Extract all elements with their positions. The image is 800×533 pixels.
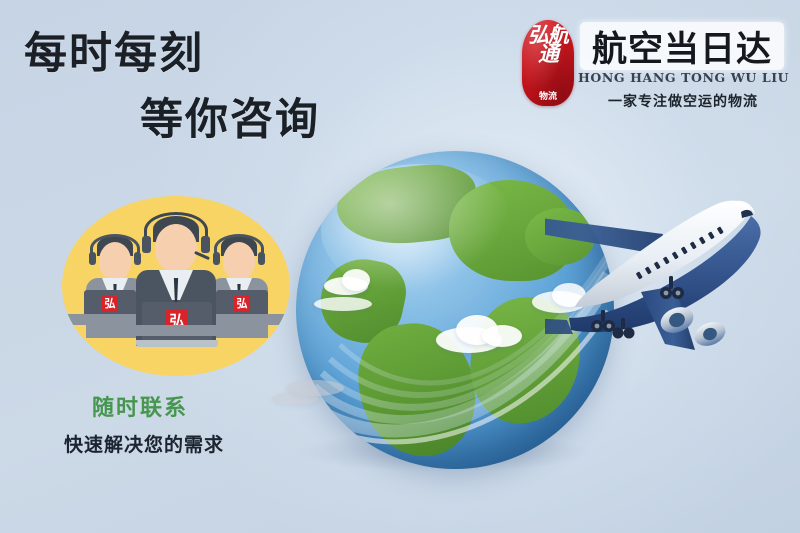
headline-line-1: 每时每刻 — [24, 33, 204, 77]
logo-slogan: 一家专注做空运的物流 — [578, 91, 788, 111]
laptop-brand-logo: 弘 — [102, 296, 118, 312]
caption-fast-solution: 快速解决您的需求 — [64, 430, 224, 457]
cloud-icon — [272, 392, 318, 405]
customer-service-illustration: 弘 弘 — [62, 196, 290, 376]
caption-contact-anytime: 随时联系 — [92, 390, 188, 422]
poster-canvas: 每时每刻 等你咨询 弘航通 物流 航空当日达 HONG HANG TONG WU… — [0, 0, 800, 533]
red-seal-stamp-icon: 弘航通 物流 — [522, 20, 574, 106]
seal-industry-characters: 物流 — [522, 91, 574, 101]
laptop-center: 弘 — [140, 302, 214, 346]
laptop-brand-logo: 弘 — [234, 296, 250, 312]
cloud-icon — [342, 269, 370, 291]
customer-service-circle-backdrop: 弘 弘 — [62, 196, 290, 376]
headline-line-2: 等你咨询 — [140, 99, 320, 143]
cloud-icon — [314, 297, 372, 311]
cloud-icon — [482, 325, 522, 347]
logo-pinyin: HONG HANG TONG WU LIU — [578, 70, 788, 85]
brand-logo-block: 弘航通 物流 航空当日达 HONG HANG TONG WU LIU 一家专注做… — [516, 18, 786, 122]
passenger-jet-airliner-icon — [545, 168, 800, 358]
logo-title: 航空当日达 — [580, 23, 784, 69]
seal-brand-characters: 弘航通 — [522, 25, 574, 63]
desk-front-panel — [86, 325, 262, 336]
